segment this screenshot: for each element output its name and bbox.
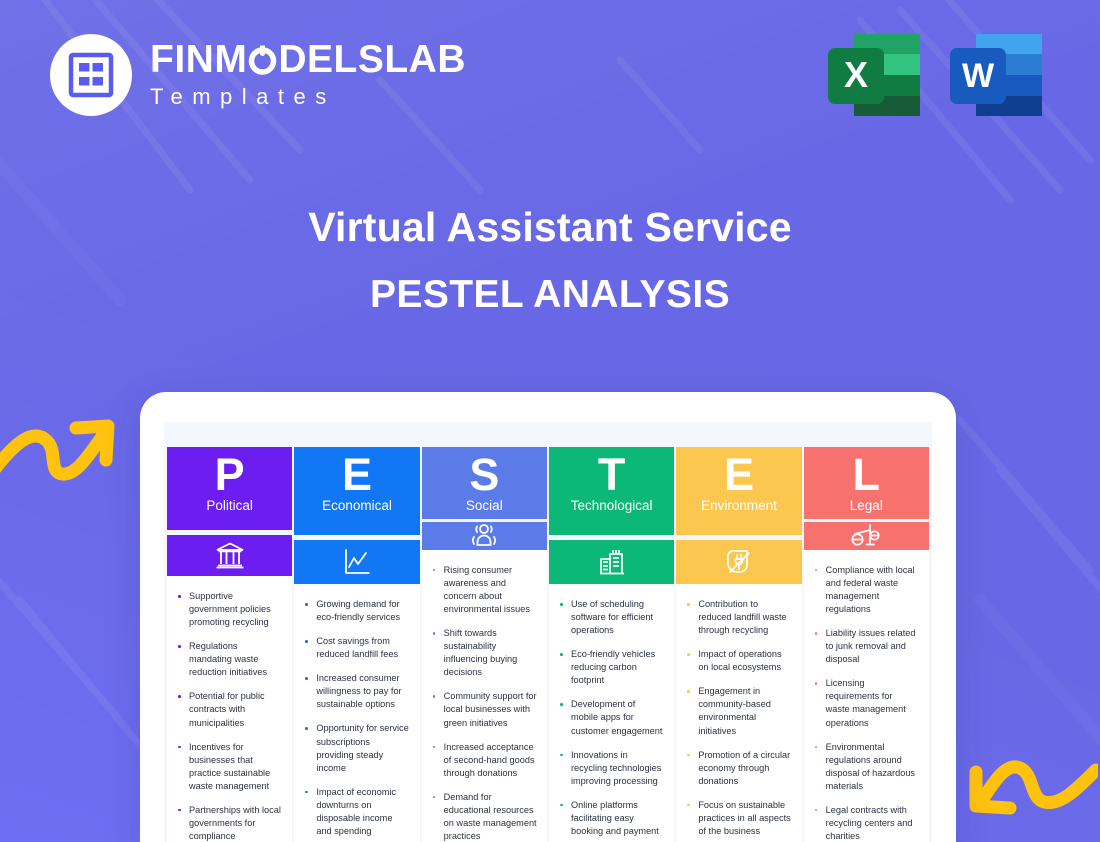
factory-building-icon bbox=[549, 540, 674, 584]
pestel-column-political[interactable]: P Political Supportive government polici… bbox=[167, 447, 292, 842]
leaf-plug-icon bbox=[676, 540, 801, 584]
pestel-column-legal[interactable]: L Legal Compliance with local and federa… bbox=[804, 447, 929, 842]
office-file-badges: X W bbox=[824, 28, 1046, 127]
line-chart-icon bbox=[294, 540, 419, 584]
svg-text:X: X bbox=[844, 54, 868, 95]
word-icon: W bbox=[946, 28, 1046, 127]
column-header-legal: L Legal bbox=[804, 447, 929, 519]
bullet-list: Rising consumer awareness and concern ab… bbox=[430, 564, 537, 842]
bullet-list: Contribution to reduced landfill waste t… bbox=[684, 598, 791, 838]
column-body-technological: Use of scheduling software for efficient… bbox=[549, 584, 674, 842]
column-letter: P bbox=[215, 452, 245, 498]
list-item: Development of mobile apps for customer … bbox=[557, 698, 664, 737]
pestel-column-technological[interactable]: T Technological Use of scheduling softwa… bbox=[549, 447, 674, 842]
list-item: Use of scheduling software for efficient… bbox=[557, 598, 664, 637]
brand-name-part1: FINM bbox=[150, 38, 247, 81]
column-letter: E bbox=[724, 452, 754, 498]
list-item: Opportunity for service subscriptions pr… bbox=[302, 722, 409, 774]
pestel-card: P Political Supportive government polici… bbox=[140, 392, 956, 842]
bullet-list: Compliance with local and federal waste … bbox=[812, 564, 919, 842]
grid-squares-icon bbox=[50, 34, 132, 116]
list-item: Liability issues related to junk removal… bbox=[812, 627, 919, 666]
brand-name-part2: DELSLAB bbox=[278, 38, 466, 81]
pestel-card-inner: P Political Supportive government polici… bbox=[164, 422, 932, 842]
list-item: Focus on sustainable practices in all as… bbox=[684, 799, 791, 838]
column-header-technological: T Technological bbox=[549, 447, 674, 535]
list-item: Engagement in community-based environmen… bbox=[684, 685, 791, 737]
column-header-political: P Political bbox=[167, 447, 292, 530]
list-item: Contribution to reduced landfill waste t… bbox=[684, 598, 791, 637]
column-header-social: S Social bbox=[422, 447, 547, 519]
pestel-column-economical[interactable]: E Economical Growing demand for eco-frie… bbox=[294, 447, 419, 842]
column-label: Political bbox=[206, 499, 253, 520]
page-title: Virtual Assistant Service bbox=[0, 202, 1100, 253]
brand-o-power-icon bbox=[247, 40, 278, 80]
list-item: Compliance with local and federal waste … bbox=[812, 564, 919, 616]
column-label: Legal bbox=[850, 499, 883, 520]
list-item: Increased acceptance of second-hand good… bbox=[430, 741, 537, 780]
people-group-icon bbox=[422, 522, 547, 550]
column-label: Social bbox=[466, 499, 503, 520]
bullet-list: Use of scheduling software for efficient… bbox=[557, 598, 664, 838]
pestel-column-environment[interactable]: E Environment Contribution to reduced la… bbox=[676, 447, 801, 842]
list-item: Online platforms facilitating easy booki… bbox=[557, 799, 664, 838]
bullet-list: Supportive government policies promoting… bbox=[175, 590, 282, 842]
pestel-column-social[interactable]: S Social Rising consumer awareness and c… bbox=[422, 447, 547, 842]
list-item: Legal contracts with recycling centers a… bbox=[812, 804, 919, 842]
column-body-environment: Contribution to reduced landfill waste t… bbox=[676, 584, 801, 842]
scales-balance-icon bbox=[804, 522, 929, 550]
poster-titles: Virtual Assistant Service PESTEL ANALYSI… bbox=[0, 202, 1100, 320]
squiggle-arrow-down-left-icon bbox=[960, 744, 1098, 839]
excel-icon: X bbox=[824, 28, 924, 127]
list-item: Supportive government policies promoting… bbox=[175, 590, 282, 629]
brand-name: FINMDELSLAB bbox=[150, 40, 466, 80]
page-subtitle: PESTEL ANALYSIS bbox=[0, 271, 1100, 320]
list-item: Promotion of a circular economy through … bbox=[684, 749, 791, 788]
svg-text:W: W bbox=[962, 57, 995, 95]
brand-logo: FINMDELSLAB Templates bbox=[50, 34, 466, 116]
pestel-poster: FINMDELSLAB Templates X W bbox=[0, 0, 1100, 842]
list-item: Licensing requirements for waste managem… bbox=[812, 677, 919, 729]
column-letter: S bbox=[469, 452, 499, 498]
list-item: Impact of operations on local ecosystems bbox=[684, 648, 791, 674]
list-item: Incentives for businesses that practice … bbox=[175, 741, 282, 793]
column-header-economical: E Economical bbox=[294, 447, 419, 535]
column-label: Technological bbox=[571, 499, 653, 520]
list-item: Potential for public contracts with muni… bbox=[175, 690, 282, 729]
list-item: Partnerships with local governments for … bbox=[175, 804, 282, 842]
column-letter: E bbox=[342, 452, 372, 498]
column-letter: T bbox=[598, 452, 626, 498]
bullet-list: Growing demand for eco-friendly services… bbox=[302, 598, 409, 838]
list-item: Impact of economic downturns on disposab… bbox=[302, 786, 409, 838]
pestel-matrix: P Political Supportive government polici… bbox=[167, 447, 929, 842]
column-body-social: Rising consumer awareness and concern ab… bbox=[422, 550, 547, 842]
list-item: Innovations in recycling technologies im… bbox=[557, 749, 664, 788]
brand-tagline: Templates bbox=[150, 83, 466, 111]
column-label: Economical bbox=[322, 499, 392, 520]
list-item: Cost savings from reduced landfill fees bbox=[302, 635, 409, 661]
list-item: Regulations mandating waste reduction in… bbox=[175, 640, 282, 679]
list-item: Shift towards sustainability influencing… bbox=[430, 627, 537, 679]
list-item: Rising consumer awareness and concern ab… bbox=[430, 564, 537, 616]
list-item: Increased consumer willingness to pay fo… bbox=[302, 672, 409, 711]
list-item: Community support for local businesses w… bbox=[430, 690, 537, 729]
column-body-legal: Compliance with local and federal waste … bbox=[804, 550, 929, 842]
column-label: Environment bbox=[701, 499, 777, 520]
column-header-environment: E Environment bbox=[676, 447, 801, 535]
column-body-political: Supportive government policies promoting… bbox=[167, 576, 292, 842]
column-body-economical: Growing demand for eco-friendly services… bbox=[294, 584, 419, 842]
list-item: Demand for educational resources on wast… bbox=[430, 791, 537, 842]
list-item: Growing demand for eco-friendly services bbox=[302, 598, 409, 624]
bank-columns-icon bbox=[167, 535, 292, 576]
column-letter: L bbox=[853, 452, 881, 498]
list-item: Eco-friendly vehicles reducing carbon fo… bbox=[557, 648, 664, 687]
squiggle-arrow-up-right-icon bbox=[0, 404, 122, 489]
list-item: Environmental regulations around disposa… bbox=[812, 741, 919, 793]
